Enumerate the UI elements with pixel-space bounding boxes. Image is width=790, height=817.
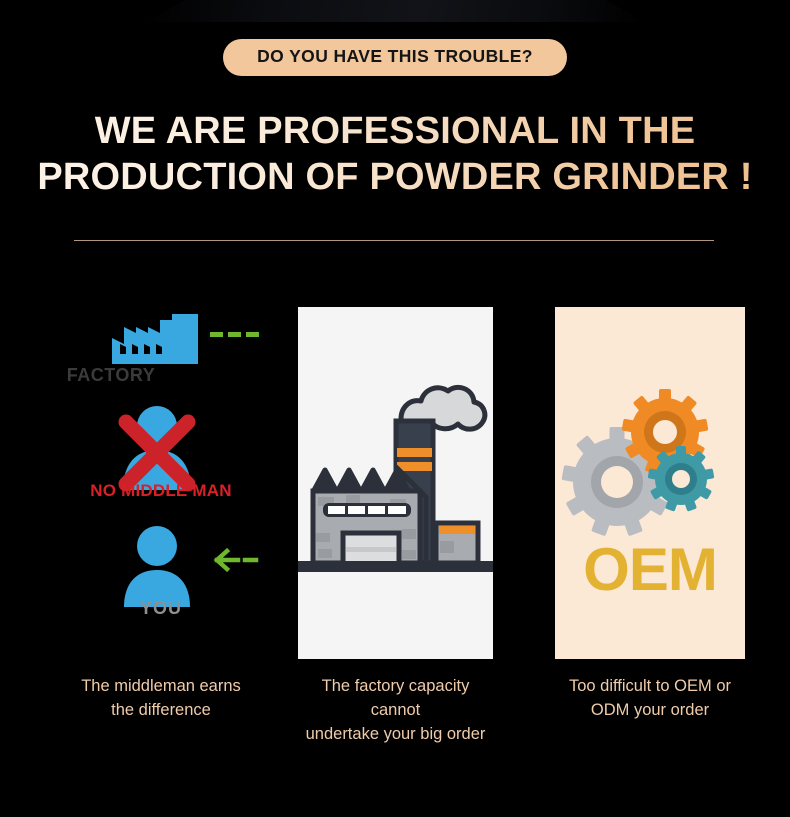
oem-label: OEM bbox=[555, 535, 745, 604]
oem-illustration-panel: OEM bbox=[555, 307, 745, 659]
caption-oem-line-2: ODM your order bbox=[555, 699, 745, 723]
factory-illustration-panel bbox=[298, 307, 493, 659]
factory-icon bbox=[110, 314, 200, 366]
headline-line-2: PRODUCTION OF POWDER GRINDER ! bbox=[0, 154, 790, 200]
caption-oem: Too difficult to OEM or ODM your order bbox=[555, 675, 745, 723]
page-title: WE ARE PROFESSIONAL IN THE PRODUCTION OF… bbox=[0, 108, 790, 201]
trouble-badge: DO YOU HAVE THIS TROUBLE? bbox=[223, 39, 567, 76]
column-oem: OEM Too difficult to OEM or ODM your ord… bbox=[555, 307, 745, 659]
caption-capacity: The factory capacity cannot undertake yo… bbox=[298, 675, 493, 747]
caption-middleman-line-1: The middleman earns bbox=[46, 675, 276, 699]
middleman-illustration: FACTORY NO bbox=[46, 307, 276, 659]
caption-capacity-line-1: The factory capacity cannot bbox=[298, 675, 493, 723]
middleman-blocked-icon bbox=[116, 404, 198, 490]
column-middleman: FACTORY NO bbox=[46, 307, 276, 659]
caption-middleman-line-2: the difference bbox=[46, 699, 276, 723]
you-label: YOU bbox=[46, 598, 276, 619]
caption-middleman: The middleman earns the difference bbox=[46, 675, 276, 723]
caption-oem-line-1: Too difficult to OEM or bbox=[555, 675, 745, 699]
left-arrow-icon bbox=[214, 547, 260, 573]
headline-divider bbox=[74, 240, 714, 241]
badge-row: DO YOU HAVE THIS TROUBLE? bbox=[0, 39, 790, 76]
factory-building-icon bbox=[298, 307, 493, 659]
no-middle-man-label: NO MIDDLE MAN bbox=[46, 481, 276, 501]
caption-capacity-line-2: undertake your big order bbox=[298, 723, 493, 747]
column-capacity: The factory capacity cannot undertake yo… bbox=[298, 307, 493, 659]
gears-icon bbox=[555, 307, 745, 659]
dashed-link-icon bbox=[210, 330, 260, 340]
top-section-bleed bbox=[145, 0, 645, 22]
headline-line-1: WE ARE PROFESSIONAL IN THE bbox=[95, 110, 696, 152]
you-person-icon bbox=[120, 525, 194, 607]
factory-label: FACTORY bbox=[46, 365, 222, 386]
